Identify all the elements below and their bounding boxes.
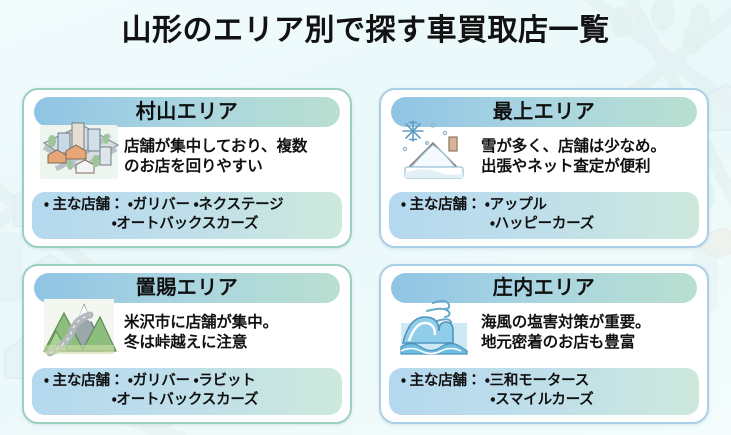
area-card-grid: 村山エリア bbox=[22, 88, 709, 424]
snow-house-icon bbox=[393, 117, 479, 183]
ocean-wave-icon bbox=[393, 293, 479, 359]
city-buildings-icon bbox=[36, 117, 122, 183]
area-card-shonai[interactable]: 庄内エリア bbox=[379, 264, 709, 424]
card-body: 店舗が集中しており、複数 のお店を回りやすい bbox=[32, 127, 342, 201]
shops-line-1: ・ 主な店舗： ・アップル bbox=[395, 196, 693, 215]
page-title: 山形のエリア別で探す車買取店一覧 bbox=[0, 14, 731, 47]
desc-line-1: 米沢市に店舗が集中。 bbox=[124, 313, 340, 333]
area-card-okitama[interactable]: 置賜エリア 米沢市に bbox=[22, 264, 352, 424]
card-body: 雪が多く、店舗は少なめ。 出張やネット査定が便利 bbox=[389, 127, 699, 201]
card-title: 庄内エリア bbox=[493, 278, 596, 298]
card-shops-footer: ・ 主な店舗： ・三和モータース ・スマイルカーズ bbox=[389, 368, 699, 415]
card-body: 米沢市に店舗が集中。 冬は峠越えに注意 bbox=[32, 303, 342, 377]
shops-line-1: ・ 主な店舗： ・ガリバー ・ネクステージ bbox=[38, 196, 336, 215]
shops-line-2: ・ハッピーカーズ bbox=[395, 215, 693, 234]
shops-line-2: ・オートバックスカーズ bbox=[38, 215, 336, 234]
desc-line-1: 店舗が集中しており、複数 bbox=[124, 137, 340, 157]
desc-line-1: 雪が多く、店舗は少なめ。 bbox=[481, 137, 697, 157]
desc-line-1: 海風の塩害対策が重要。 bbox=[481, 313, 697, 333]
shops-line-1: ・ 主な店舗： ・三和モータース bbox=[395, 372, 693, 391]
card-title: 置賜エリア bbox=[136, 278, 239, 298]
mountain-road-icon bbox=[36, 293, 122, 359]
card-shops-footer: ・ 主な店舗： ・アップル ・ハッピーカーズ bbox=[389, 192, 699, 239]
card-title: 最上エリア bbox=[493, 102, 596, 122]
title-bar: 山形のエリア別で探す車買取店一覧 bbox=[0, 14, 731, 47]
card-shops-footer: ・ 主な店舗： ・ガリバー ・ネクステージ ・オートバックスカーズ bbox=[32, 192, 342, 239]
card-title: 村山エリア bbox=[136, 102, 239, 122]
infographic-page: 山形のエリア別で探す車買取店一覧 村山エリア bbox=[0, 0, 731, 435]
shops-line-2: ・オートバックスカーズ bbox=[38, 391, 336, 410]
desc-line-2: のお店を回りやすい bbox=[124, 157, 340, 177]
shops-line-1: ・ 主な店舗： ・ガリバー ・ラビット bbox=[38, 372, 336, 391]
desc-line-2: 冬は峠越えに注意 bbox=[124, 333, 340, 353]
card-shops-footer: ・ 主な店舗： ・ガリバー ・ラビット ・オートバックスカーズ bbox=[32, 368, 342, 415]
area-card-murayama[interactable]: 村山エリア bbox=[22, 88, 352, 248]
card-description: 海風の塩害対策が重要。 地元密着のお店も豊富 bbox=[479, 307, 697, 353]
area-card-mogami[interactable]: 最上エリア bbox=[379, 88, 709, 248]
card-body: 海風の塩害対策が重要。 地元密着のお店も豊富 bbox=[389, 303, 699, 377]
shops-line-2: ・スマイルカーズ bbox=[395, 391, 693, 410]
card-description: 米沢市に店舗が集中。 冬は峠越えに注意 bbox=[122, 307, 340, 353]
card-description: 雪が多く、店舗は少なめ。 出張やネット査定が便利 bbox=[479, 131, 697, 177]
desc-line-2: 出張やネット査定が便利 bbox=[481, 157, 697, 177]
desc-line-2: 地元密着のお店も豊富 bbox=[481, 333, 697, 353]
card-description: 店舗が集中しており、複数 のお店を回りやすい bbox=[122, 131, 340, 177]
